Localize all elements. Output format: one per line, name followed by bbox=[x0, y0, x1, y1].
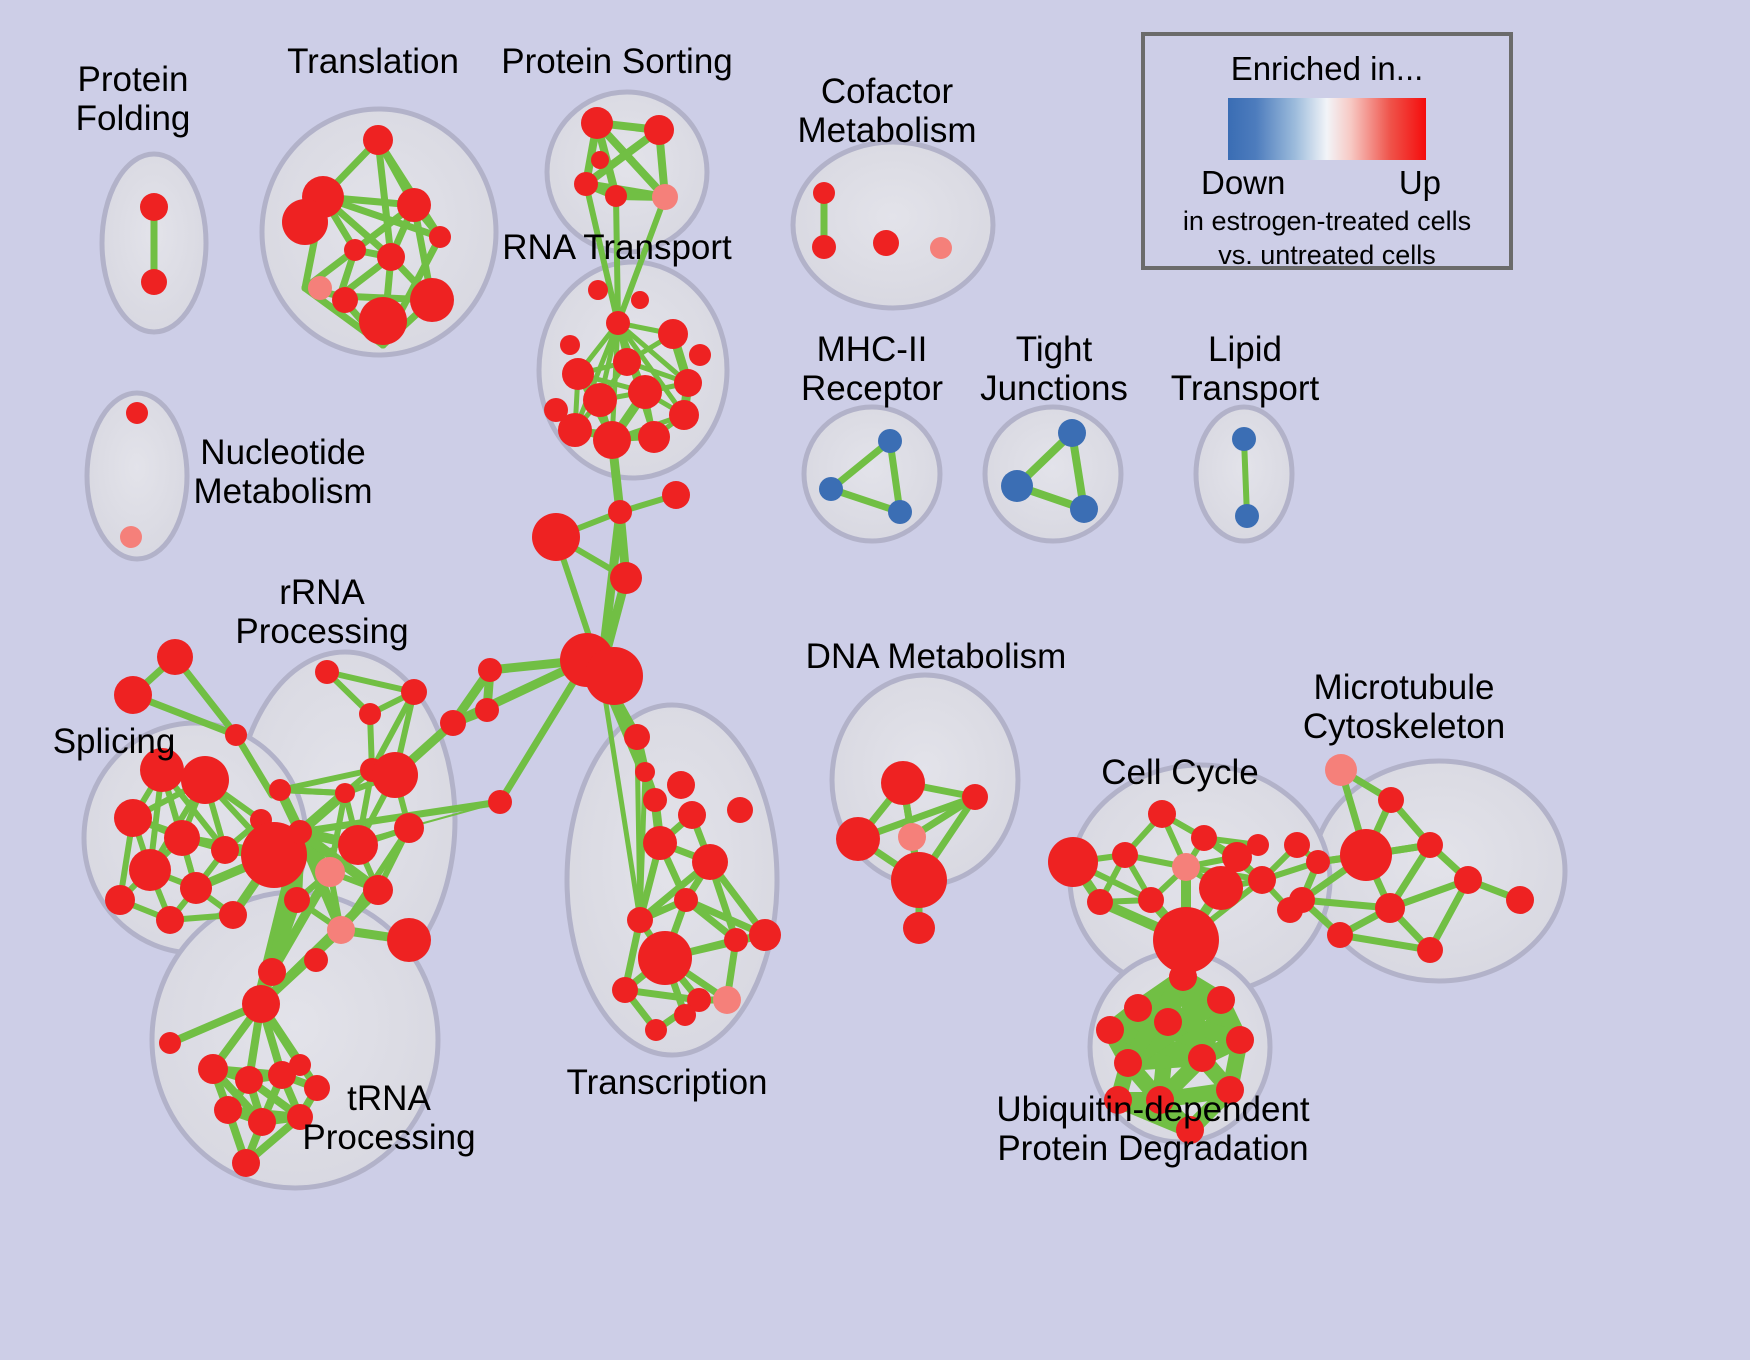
legend-subtitle-line1: in estrogen-treated cells bbox=[1145, 206, 1509, 238]
cluster-label-trna-processing: tRNA Processing bbox=[302, 1079, 475, 1157]
cluster-label-dna-metabolism: DNA Metabolism bbox=[806, 637, 1067, 676]
legend-endpoints: Down Up bbox=[1207, 164, 1447, 204]
cluster-label-mhc-ii-receptor: MHC-II Receptor bbox=[801, 330, 943, 408]
cluster-label-rrna-processing: rRNA Processing bbox=[235, 573, 408, 651]
legend-subtitle-line2: vs. untreated cells bbox=[1145, 240, 1509, 272]
cluster-label-cofactor-metabolism: Cofactor Metabolism bbox=[798, 72, 977, 150]
hull-transcription bbox=[567, 705, 777, 1055]
cluster-label-ubiquitin: Ubiquitin-dependent Protein Degradation bbox=[996, 1090, 1309, 1168]
legend-down-label: Down bbox=[1201, 164, 1285, 202]
legend-up-label: Up bbox=[1399, 164, 1441, 202]
cluster-label-protein-folding: Protein Folding bbox=[76, 60, 191, 138]
hull-mhc bbox=[804, 407, 940, 541]
cluster-label-lipid-transport: Lipid Transport bbox=[1171, 330, 1319, 408]
cluster-label-tight-junctions: Tight Junctions bbox=[980, 330, 1128, 408]
cluster-label-protein-sorting: Protein Sorting bbox=[501, 42, 733, 81]
cluster-label-microtubule: Microtubule Cytoskeleton bbox=[1303, 668, 1505, 746]
legend-title: Enriched in... bbox=[1145, 50, 1509, 88]
hull-tight bbox=[985, 407, 1121, 541]
cluster-label-translation: Translation bbox=[287, 42, 459, 81]
cluster-label-cell-cycle: Cell Cycle bbox=[1101, 753, 1259, 792]
cluster-label-rna-transport: RNA Transport bbox=[502, 228, 732, 267]
legend-gradient-bar bbox=[1228, 98, 1426, 160]
cluster-label-splicing: Splicing bbox=[53, 722, 176, 761]
cluster-label-transcription: Transcription bbox=[567, 1063, 768, 1102]
cluster-label-nucleotide-metabolism: Nucleotide Metabolism bbox=[194, 433, 373, 511]
legend-box: Enriched in... Down Up in estrogen-treat… bbox=[1141, 32, 1513, 270]
